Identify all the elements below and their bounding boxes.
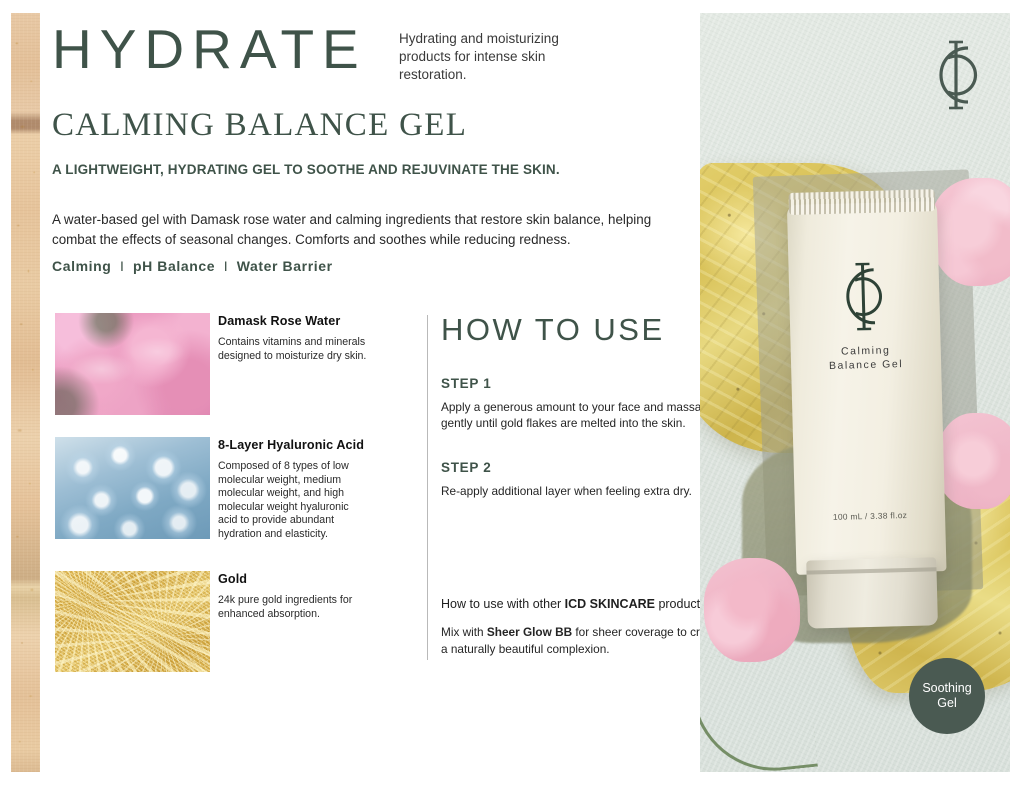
hyaluronic-acid-image — [55, 437, 210, 539]
decorative-texture-strip — [11, 13, 40, 772]
ingredient-description: Composed of 8 types of low molecular wei… — [218, 460, 368, 541]
badge-line-1: Soothing — [922, 681, 971, 696]
benefit-separator: I — [220, 258, 233, 274]
benefit-item-water-barrier: Water Barrier — [237, 258, 333, 274]
icd-monogram-logo-icon — [924, 36, 988, 114]
damask-rose-water-image — [55, 313, 210, 415]
ingredient-name: 8-Layer Hyaluronic Acid — [218, 438, 417, 452]
step-1-label: STEP 1 — [441, 376, 731, 391]
status-badge: Soothing Gel — [909, 658, 985, 734]
list-item: Gold 24k pure gold ingredients for enhan… — [55, 571, 417, 681]
tube-product-label: Calming Balance Gel — [791, 343, 942, 375]
list-item: 8-Layer Hyaluronic Acid Composed of 8 ty… — [55, 437, 417, 557]
list-item: Damask Rose Water Contains vitamins and … — [55, 313, 417, 423]
ingredient-description: Contains vitamins and minerals designed … — [218, 336, 368, 363]
rose-flower-icon — [930, 178, 1010, 286]
related-product-name: Sheer Glow BB — [487, 625, 572, 639]
combination-heading: How to use with other ICD SKINCARE produ… — [441, 596, 731, 613]
brand-name: ICD SKINCARE — [565, 597, 655, 611]
ingredients-list: Damask Rose Water Contains vitamins and … — [55, 313, 417, 695]
how-to-use-section: HOW TO USE STEP 1 Apply a generous amoun… — [441, 313, 731, 499]
benefit-item-ph-balance: pH Balance — [133, 258, 215, 274]
content-column: HYDRATE Hydrating and moisturizing produ… — [52, 0, 682, 786]
gold-image — [55, 571, 210, 672]
category-description: Hydrating and moisturizing products for … — [399, 30, 599, 84]
step-2-text: Re-apply additional layer when feeling e… — [441, 483, 724, 499]
icd-monogram-logo-icon — [831, 258, 895, 336]
step-1-text: Apply a generous amount to your face and… — [441, 399, 724, 431]
benefits-list: Calming I pH Balance I Water Barrier — [52, 258, 333, 274]
benefit-separator: I — [116, 258, 129, 274]
rose-flower-icon — [936, 413, 1010, 509]
combination-usage-section: How to use with other ICD SKINCARE produ… — [441, 596, 731, 657]
tube-cap — [806, 557, 938, 628]
combination-body-prefix: Mix with — [441, 625, 487, 639]
how-to-use-title: HOW TO USE — [441, 313, 731, 347]
ingredient-description: 24k pure gold ingredients for enhanced a… — [218, 594, 368, 621]
vertical-divider — [427, 315, 428, 660]
category-header: HYDRATE Hydrating and moisturizing produ… — [52, 22, 682, 102]
product-tube: Calming Balance Gel 100 mL / 3.38 fl.oz — [786, 179, 947, 619]
combination-heading-prefix: How to use with other — [441, 597, 565, 611]
rose-flower-icon — [704, 558, 800, 662]
ingredient-name: Gold — [218, 572, 417, 586]
combination-body: Mix with Sheer Glow BB for sheer coverag… — [441, 624, 726, 657]
product-description: A water-based gel with Damask rose water… — [52, 210, 652, 250]
ingredient-name: Damask Rose Water — [218, 314, 417, 328]
page-title: CALMING BALANCE GEL — [52, 107, 467, 144]
product-photo-panel: Calming Balance Gel 100 mL / 3.38 fl.oz … — [700, 13, 1010, 772]
product-tagline: A LIGHTWEIGHT, HYDRATING GEL TO SOOTHE A… — [52, 162, 652, 177]
rose-stem — [700, 647, 818, 772]
step-2-label: STEP 2 — [441, 460, 731, 475]
tube-crimp-seal — [789, 189, 936, 215]
badge-line-2: Gel — [922, 696, 971, 711]
benefit-item-calming: Calming — [52, 258, 111, 274]
